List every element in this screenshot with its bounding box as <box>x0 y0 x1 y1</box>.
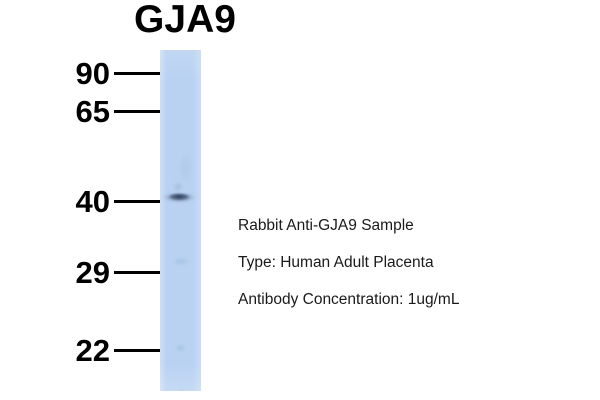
mw-label: 90 <box>76 58 110 89</box>
mw-label: 29 <box>76 257 110 288</box>
annotation-line-sample-type: Type: Human Adult Placenta <box>238 244 578 281</box>
lane-smudge-mid <box>174 258 188 265</box>
mw-tick-line <box>114 271 160 274</box>
mw-marker-65: 65 <box>62 94 160 128</box>
mw-marker-90: 90 <box>62 56 160 90</box>
annotation-line-sample: Rabbit Anti-GJA9 Sample <box>238 207 578 244</box>
mw-tick-line <box>114 200 160 203</box>
mw-label: 22 <box>76 335 110 366</box>
mw-tick-line <box>114 72 160 75</box>
annotation-block: Rabbit Anti-GJA9 Sample Type: Human Adul… <box>238 207 578 318</box>
mw-tick-line <box>114 110 160 113</box>
gel-lane-shading <box>160 50 201 391</box>
mw-marker-29: 29 <box>62 255 160 289</box>
lane-smudge-upper <box>180 155 192 181</box>
mw-tick-line <box>114 349 160 352</box>
gel-lane <box>160 50 201 391</box>
annotation-line-concentration: Antibody Concentration: 1ug/mL <box>238 281 578 318</box>
mw-marker-22: 22 <box>62 333 160 367</box>
mw-marker-40: 40 <box>62 184 160 218</box>
page-title: GJA9 <box>0 0 370 40</box>
western-blot-figure: GJA9 90 65 40 29 22 Rabbit Anti-GJA9 Sam… <box>0 0 600 400</box>
protein-band-core <box>169 193 189 200</box>
lane-smudge-low <box>176 345 185 351</box>
mw-label: 40 <box>76 186 110 217</box>
mw-label: 65 <box>76 96 110 127</box>
lane-smudge-bottom <box>178 390 185 391</box>
